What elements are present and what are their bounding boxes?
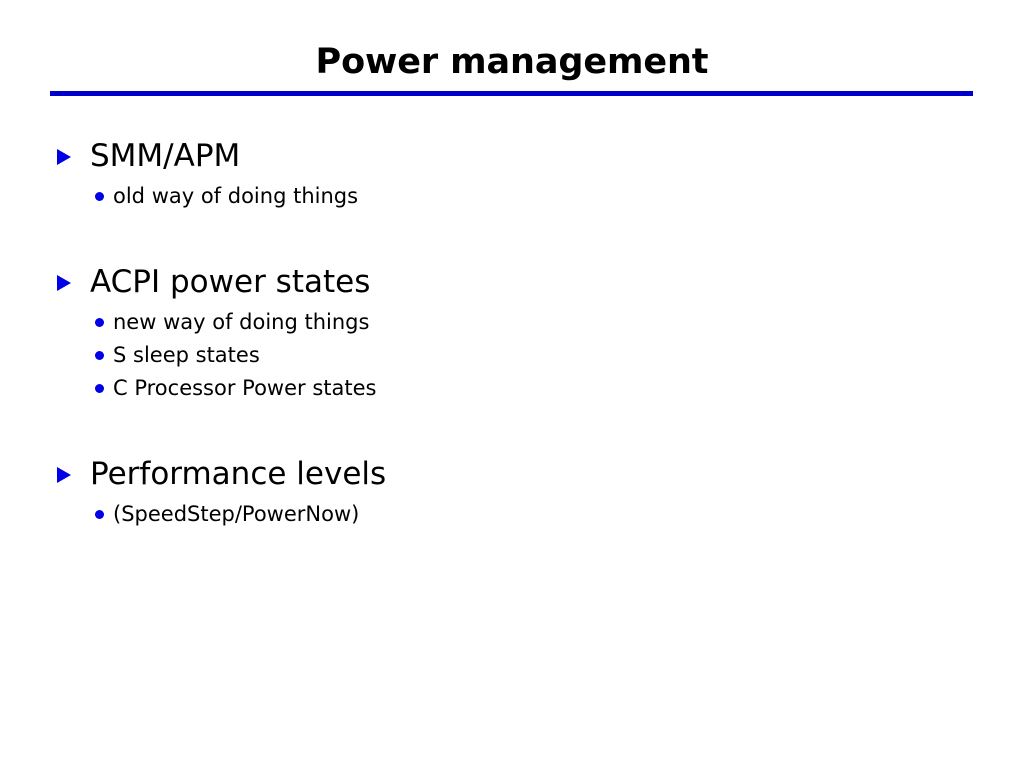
triangle-right-bullet-icon — [57, 132, 83, 180]
round-bullet-icon — [95, 372, 109, 405]
round-bullet-icon — [95, 180, 109, 213]
outline-item-level1[interactable]: Performance levels — [0, 450, 1024, 498]
outline-item-label: old way of doing things — [113, 184, 358, 208]
triangle-right-bullet-icon — [57, 258, 83, 306]
outline-spacer-line — [0, 213, 1024, 258]
outline-spacer-line — [0, 405, 1024, 450]
triangle-right-bullet-icon — [57, 450, 83, 498]
outline-item-label: SMM/APM — [90, 138, 240, 174]
dot-shape — [95, 318, 104, 327]
round-bullet-icon — [95, 339, 109, 372]
outline-item-level1[interactable]: ACPI power states — [0, 258, 1024, 306]
outline-item-label: new way of doing things — [113, 310, 369, 334]
outline-item-label: ACPI power states — [90, 264, 370, 300]
triangle-shape — [57, 467, 71, 483]
round-bullet-icon — [95, 306, 109, 339]
round-bullet-icon — [95, 498, 109, 531]
slide-title-block: Power management — [0, 44, 1024, 82]
outline-item-label: Performance levels — [90, 456, 386, 492]
title-divider-rule — [50, 91, 973, 96]
outline-item-level2[interactable]: old way of doing things — [0, 180, 1024, 213]
dot-shape — [95, 351, 104, 360]
outline-item-level2[interactable]: C Processor Power states — [0, 372, 1024, 405]
outline-item-label: (SpeedStep/PowerNow) — [113, 502, 359, 526]
dot-shape — [95, 384, 104, 393]
presentation-slide: Power management SMM/APMold way of doing… — [0, 0, 1024, 768]
bullet-outline-list: SMM/APMold way of doing thingsACPI power… — [0, 132, 1024, 531]
outline-item-level2[interactable]: (SpeedStep/PowerNow) — [0, 498, 1024, 531]
triangle-shape — [57, 149, 71, 165]
triangle-shape — [57, 275, 71, 291]
outline-item-label: C Processor Power states — [113, 376, 376, 400]
outline-item-level1[interactable]: SMM/APM — [0, 132, 1024, 180]
page-title: Power management — [316, 44, 709, 82]
dot-shape — [95, 192, 104, 201]
outline-item-level2[interactable]: S sleep states — [0, 339, 1024, 372]
slide-body: SMM/APMold way of doing thingsACPI power… — [0, 132, 1024, 531]
outline-item-label: S sleep states — [113, 343, 260, 367]
dot-shape — [95, 510, 104, 519]
outline-item-level2[interactable]: new way of doing things — [0, 306, 1024, 339]
